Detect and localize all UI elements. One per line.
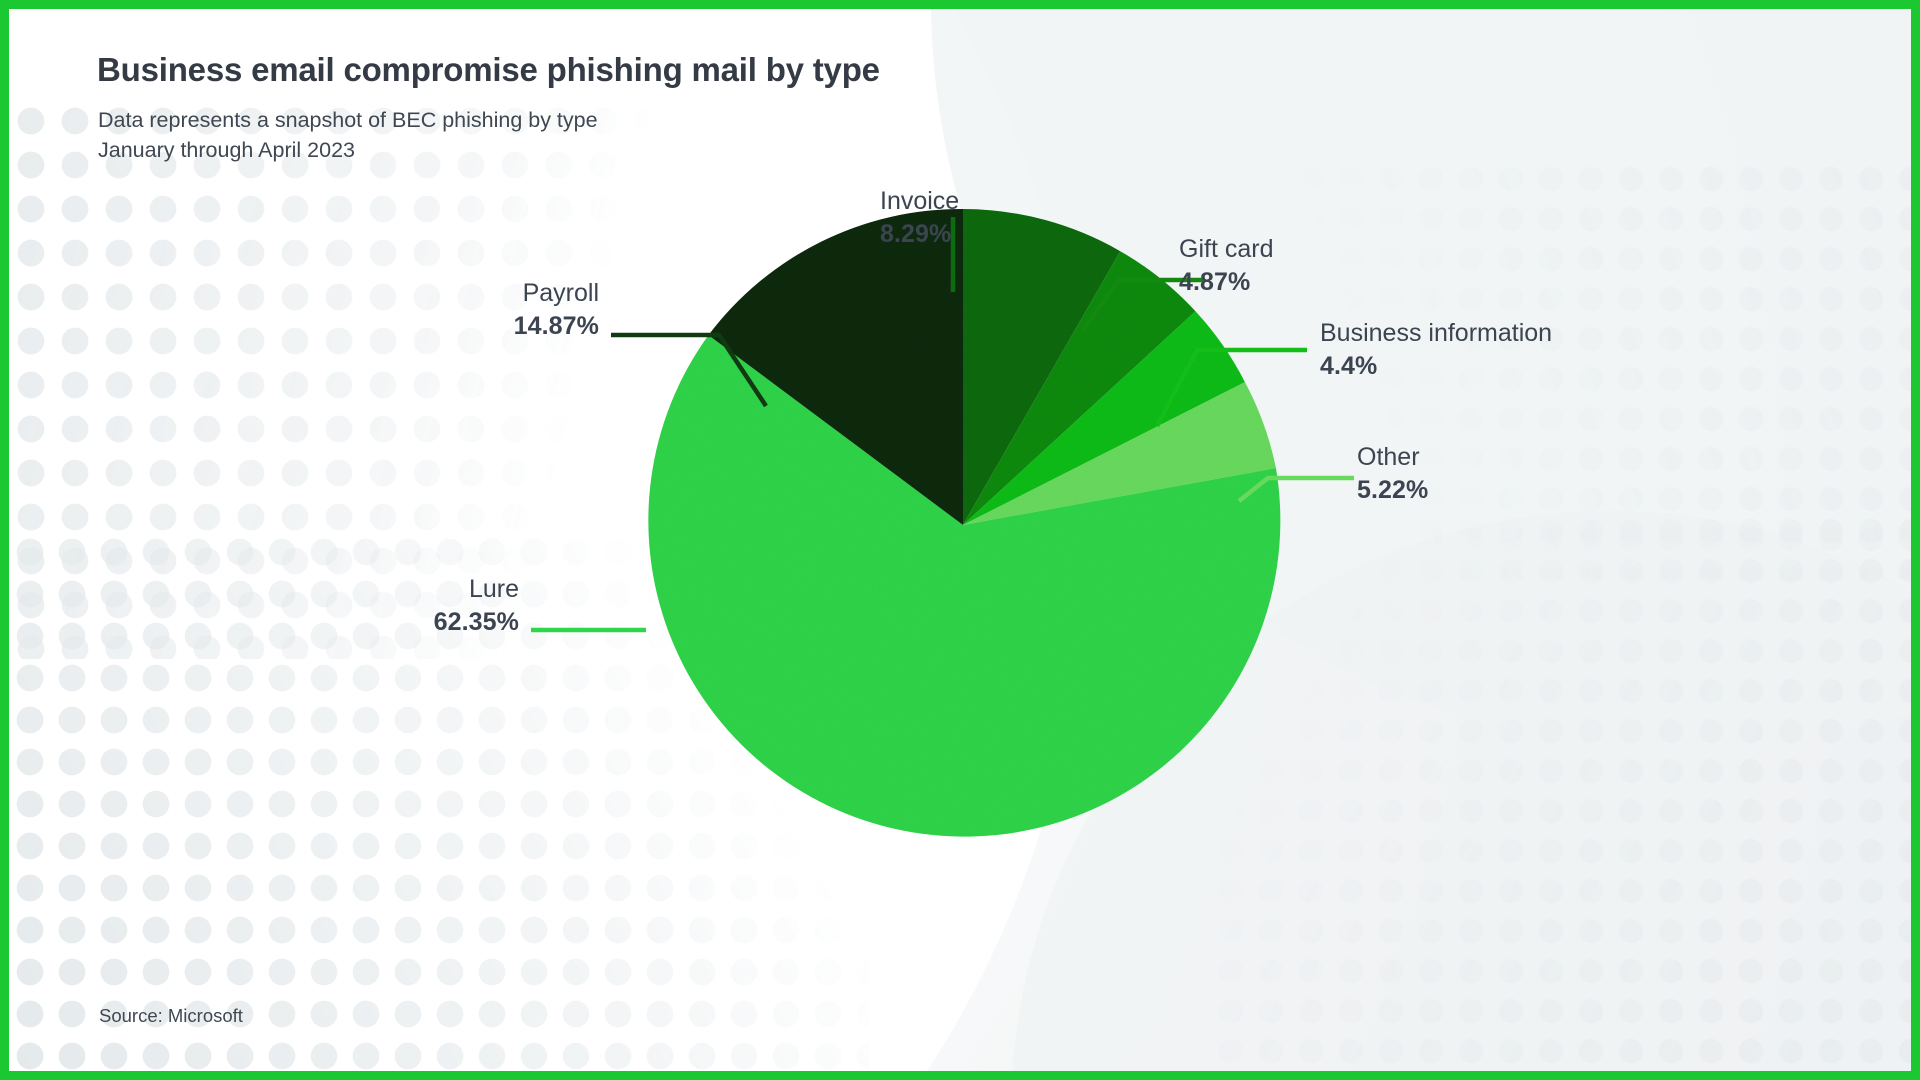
pie-label-business-information-value: 4.4% xyxy=(1320,350,1552,383)
pie-chart-svg xyxy=(9,9,1911,1071)
pie-slices xyxy=(648,209,1280,837)
pie-label-business-information: Business information 4.4% xyxy=(1320,317,1552,383)
source-note: Source: Microsoft xyxy=(99,1005,243,1027)
pie-label-other-value: 5.22% xyxy=(1357,474,1428,507)
chart-canvas: Business email compromise phishing mail … xyxy=(9,9,1911,1071)
pie-label-business-information-name: Business information xyxy=(1320,319,1552,347)
pie-label-other: Other 5.22% xyxy=(1357,441,1428,507)
pie-label-payroll-value: 14.87% xyxy=(239,310,599,343)
pie-chart: Invoice 8.29% Gift card 4.87% Business i… xyxy=(9,9,1911,1071)
pie-label-invoice-value: 8.29% xyxy=(880,218,959,251)
pie-label-lure: Lure 62.35% xyxy=(199,573,519,639)
pie-label-payroll-name: Payroll xyxy=(523,279,599,307)
pie-label-gift-card-name: Gift card xyxy=(1179,235,1273,263)
pie-label-invoice-name: Invoice xyxy=(880,187,959,215)
pie-label-invoice: Invoice 8.29% xyxy=(880,185,959,251)
pie-label-gift-card: Gift card 4.87% xyxy=(1179,233,1273,299)
pie-label-lure-name: Lure xyxy=(469,575,519,603)
pie-label-other-name: Other xyxy=(1357,443,1420,471)
chart-frame: Business email compromise phishing mail … xyxy=(0,0,1920,1080)
pie-label-payroll: Payroll 14.87% xyxy=(239,277,599,343)
pie-label-lure-value: 62.35% xyxy=(199,606,519,639)
pie-label-gift-card-value: 4.87% xyxy=(1179,266,1273,299)
